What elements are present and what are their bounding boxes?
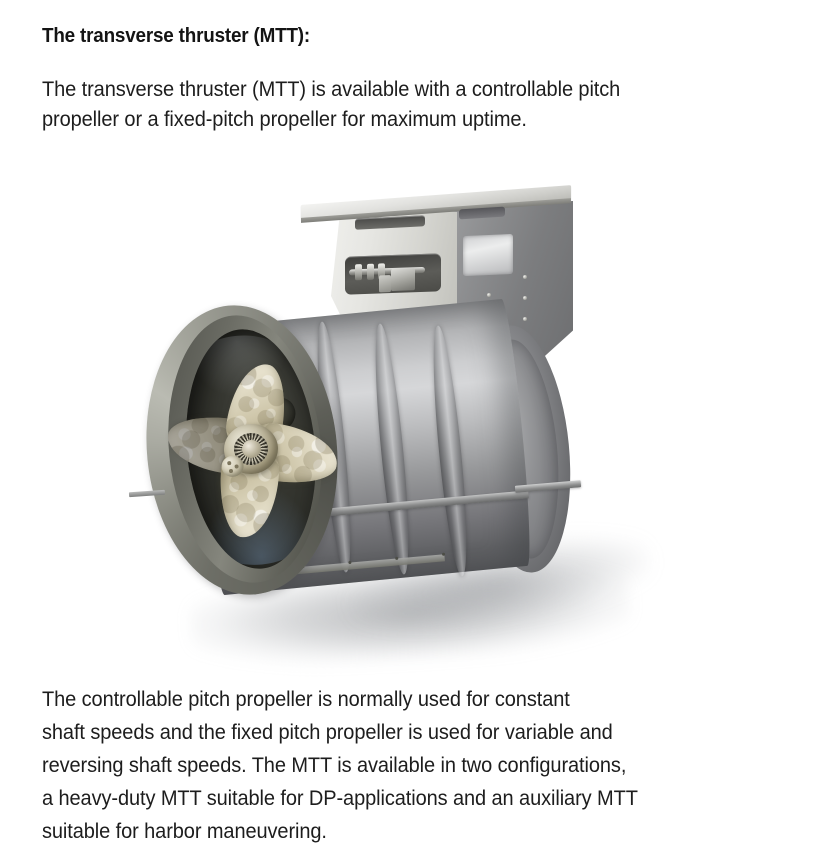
intro-line-1: The transverse thruster (MTT) is availab… [42, 74, 758, 104]
outro-line-1: The controllable pitch propeller is norm… [42, 683, 777, 716]
outro-line-3: reversing shaft speeds. The MTT is avail… [42, 749, 777, 782]
page-title: The transverse thruster (MTT): [42, 24, 310, 48]
outro-line-5: suitable for harbor maneuvering. [42, 815, 777, 848]
intro-line-2: propeller or a fixed-pitch propeller for… [42, 104, 758, 134]
bracket-window-machinery [345, 253, 441, 294]
outro-paragraph: The controllable pitch propeller is norm… [42, 683, 777, 848]
propeller [176, 323, 326, 574]
machinery-block [391, 268, 415, 291]
page-root: The transverse thruster (MTT): The trans… [0, 0, 830, 863]
outro-line-2: shaft speeds and the fixed pitch propell… [42, 716, 777, 749]
internal-machinery [345, 253, 441, 294]
machinery-collar-1 [355, 264, 362, 280]
machinery-collar-2 [367, 264, 374, 280]
tunnel-housing [95, 295, 615, 625]
outro-line-4: a heavy-duty MTT suitable for DP-applica… [42, 782, 777, 815]
product-render-stage [95, 175, 735, 675]
intro-paragraph: The transverse thruster (MTT) is availab… [42, 74, 758, 134]
product-image [95, 175, 735, 675]
bracket-window-rect [463, 234, 513, 276]
machinery-block-small [379, 275, 391, 292]
